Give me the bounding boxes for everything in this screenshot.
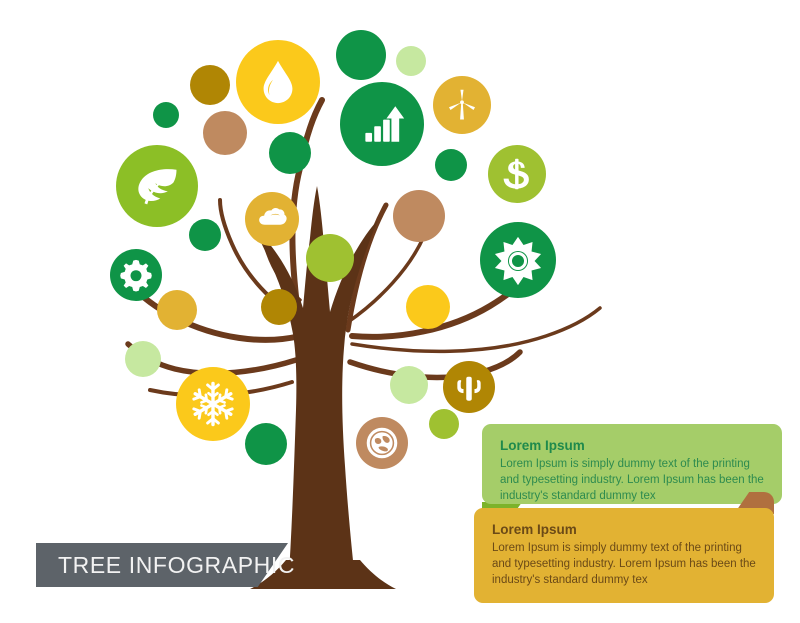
cloud-icon[interactable] [245,192,299,246]
leaf-dot [203,111,247,155]
callout-card-green[interactable]: Lorem Ipsum Lorem Ipsum is simply dummy … [482,424,782,504]
infographic-canvas: TREE INFOGRAPHIC Lorem Ipsum Lorem Ipsum… [0,0,800,623]
yellow-card-body: Lorem Ipsum is simply dummy text of the … [492,541,756,589]
leaf-dot [406,285,450,329]
globe-icon[interactable] [356,417,408,469]
leaf-icon[interactable] [116,145,198,227]
sun-icon[interactable] [480,222,556,298]
yellow-card-heading: Lorem Ipsum [492,522,756,539]
leaf-dot [393,190,445,242]
callout-card-yellow[interactable]: Lorem Ipsum Lorem Ipsum is simply dummy … [474,508,774,603]
cactus-icon[interactable] [443,361,495,413]
wind-turbine-icon[interactable] [433,76,491,134]
leaf-dot [189,219,221,251]
leaf-dot [190,65,230,105]
leaf-dot [245,423,287,465]
water-drop-icon[interactable] [236,40,320,124]
gear-icon[interactable] [110,249,162,301]
leaf-dot [157,290,197,330]
snowflake-icon[interactable] [176,367,250,441]
leaf-dot [153,102,179,128]
title-banner: TREE INFOGRAPHIC [36,543,288,587]
leaf-dot [429,409,459,439]
leaf-dot [306,234,354,282]
dollar-icon[interactable] [488,145,546,203]
leaf-dot [269,132,311,174]
leaf-dot [125,341,161,377]
green-card-body: Lorem Ipsum is simply dummy text of the … [500,457,764,505]
green-card-heading: Lorem Ipsum [500,438,764,455]
globe-icon-glyph [368,429,395,456]
growth-chart-icon[interactable] [340,82,424,166]
leaf-dot [435,149,467,181]
leaf-dot [390,366,428,404]
leaf-dot [396,46,426,76]
growth-chart-icon-background [340,82,424,166]
page-title: TREE INFOGRAPHIC [58,543,295,587]
leaf-dot [336,30,386,80]
leaf-dot [261,289,297,325]
gear-icon-glyph [120,260,152,292]
